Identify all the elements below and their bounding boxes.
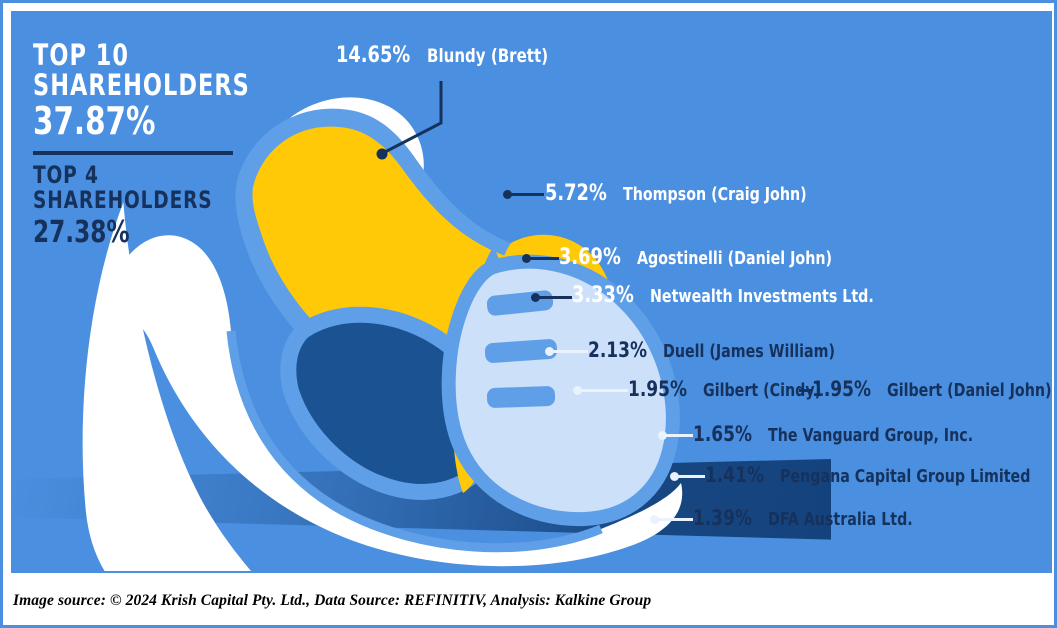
leader-dot-netwealth xyxy=(531,293,540,302)
leader-dot-agostinelli xyxy=(522,254,531,263)
callout-netwealth-pct: 3.33% xyxy=(572,283,634,308)
top4-percentage: 27.38% xyxy=(33,217,257,249)
callout-dfa-name: DFA Australia Ltd. xyxy=(768,509,913,530)
leader-dot-gilbert-cindy xyxy=(573,386,582,395)
callout-gilbert-daniel-pct: 1.95% xyxy=(812,377,871,401)
callout-duell-name: Duell (James William) xyxy=(663,341,835,362)
callout-gilbert-daniel: 1.95% Gilbert (Daniel John) xyxy=(812,377,1052,401)
callout-pengana-pct: 1.41% xyxy=(705,463,764,487)
callout-thompson-pct: 5.72% xyxy=(545,181,607,206)
callout-gilbert-cindy-pct: 1.95% xyxy=(628,377,687,401)
footer-caption: Image source: © 2024 Krish Capital Pty. … xyxy=(13,581,1043,621)
leader-line-thompson xyxy=(508,193,544,196)
headline-block: TOP 10 SHAREHOLDERS 37.87% TOP 4 SHAREHO… xyxy=(33,41,293,249)
leader-line-pengana xyxy=(675,475,705,478)
leader-line-netwealth xyxy=(536,296,572,299)
leader-line-duell xyxy=(550,350,588,353)
top10-line2: SHAREHOLDERS xyxy=(33,71,257,101)
leader-line-gilbert-cindy xyxy=(578,389,628,392)
top10-line1: TOP 10 xyxy=(33,41,257,71)
top4-line1: TOP 4 xyxy=(33,163,257,188)
callout-agostinelli-name: Agostinelli (Daniel John) xyxy=(637,248,832,269)
infographic-panel: TOP 10 SHAREHOLDERS 37.87% TOP 4 SHAREHO… xyxy=(11,11,1052,573)
top4-heading: TOP 4 SHAREHOLDERS 27.38% xyxy=(33,163,257,249)
leader-line-blundy xyxy=(371,71,481,161)
callout-netwealth: 3.33% Netwealth Investments Ltd. xyxy=(572,283,904,308)
callout-agostinelli-pct: 3.69% xyxy=(559,245,621,270)
callout-duell-pct: 2.13% xyxy=(588,338,647,362)
headline-divider xyxy=(33,151,233,155)
footer-caption-text: Image source: © 2024 Krish Capital Pty. … xyxy=(13,592,651,610)
callout-dfa: 1.39% DFA Australia Ltd. xyxy=(693,506,932,530)
callout-vanguard-name: The Vanguard Group, Inc. xyxy=(768,425,973,446)
leader-dot-vanguard xyxy=(658,431,667,440)
callout-thompson-name: Thompson (Craig John) xyxy=(623,184,807,205)
leader-line-vanguard xyxy=(663,434,693,437)
top4-line2: SHAREHOLDERS xyxy=(33,188,257,213)
callout-dfa-pct: 1.39% xyxy=(693,506,752,530)
callout-blundy: 14.65% Blundy (Brett) xyxy=(336,43,565,68)
leader-line-dfa xyxy=(655,518,693,521)
leader-dot-dfa xyxy=(650,515,659,524)
callout-gilbert-daniel-name: Gilbert (Daniel John) xyxy=(887,380,1052,401)
leader-dot-pengana xyxy=(670,472,679,481)
callout-netwealth-name: Netwealth Investments Ltd. xyxy=(650,286,874,307)
leader-dot-duell xyxy=(545,347,554,356)
callout-blundy-pct: 14.65% xyxy=(336,43,410,68)
top10-percentage: 37.87% xyxy=(33,102,257,141)
leader-dash-gilbert-daniel xyxy=(799,389,812,392)
callout-thompson: 5.72% Thompson (Craig John) xyxy=(545,181,831,206)
callout-vanguard: 1.65% The Vanguard Group, Inc. xyxy=(693,422,1001,446)
callout-duell: 2.13% Duell (James William) xyxy=(588,338,858,362)
callout-pengana-name: Pengana Capital Group Limited xyxy=(780,466,1030,487)
callout-pengana: 1.41% Pengana Capital Group Limited xyxy=(705,463,1052,487)
callout-blundy-name: Blundy (Brett) xyxy=(427,45,548,67)
callout-agostinelli: 3.69% Agostinelli (Daniel John) xyxy=(559,245,858,270)
top10-heading: TOP 10 SHAREHOLDERS 37.87% xyxy=(33,41,257,141)
infographic-frame: TOP 10 SHAREHOLDERS 37.87% TOP 4 SHAREHO… xyxy=(0,0,1057,628)
leader-line-agostinelli xyxy=(527,257,559,260)
callout-vanguard-pct: 1.65% xyxy=(693,422,752,446)
leader-dot-thompson xyxy=(503,190,512,199)
